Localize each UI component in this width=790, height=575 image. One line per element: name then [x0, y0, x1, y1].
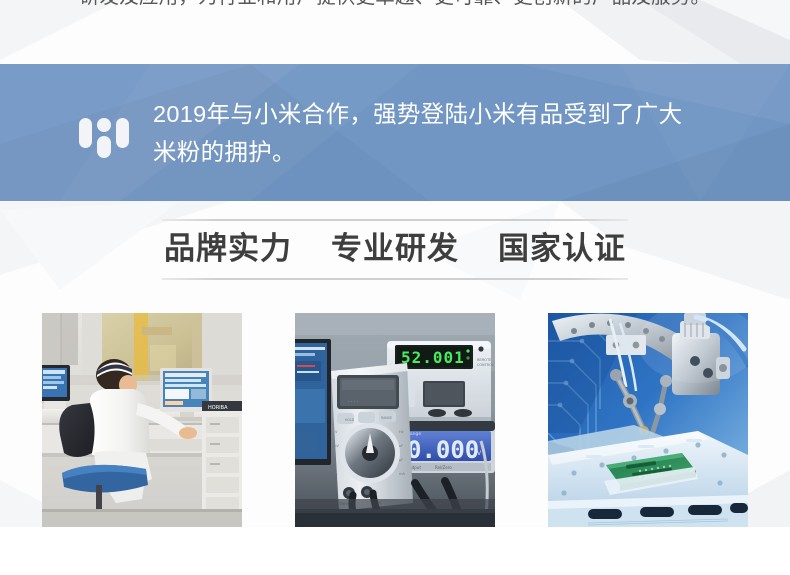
heading-brand-strength: 品牌实力: [164, 229, 292, 269]
xiaomi-mi-logo-icon: [78, 106, 130, 158]
banner-headline-text: 2019年与小米合作，强势登陆小米有品受到了广大米粉的拥护。: [153, 95, 698, 171]
headings-row: 品牌实力 专业研发 国家认证: [162, 221, 628, 278]
photo-gallery-row: HORIBA: [42, 313, 748, 527]
photo-measurement-instruments: 52.001 REMOTE CONTROL Auto Range 0.000: [295, 313, 495, 527]
section-headings-block: 品牌实力 专业研发 国家认证: [162, 219, 628, 280]
intro-paragraph-text: 研发及应用，为行业和用户提供更卓越、更可靠、更创新的产品及服务。: [0, 0, 790, 13]
heading-national-certification: 国家认证: [498, 229, 626, 269]
heading-rule-bottom: [162, 278, 628, 280]
xiaomi-partnership-banner: 2019年与小米合作，强势登陆小米有品受到了广大米粉的拥护。: [0, 64, 790, 201]
photo-robotic-pcb-testing: [548, 313, 748, 527]
photo-quality-lab-workstation: HORIBA: [42, 313, 242, 527]
banner-content: 2019年与小米合作，强势登陆小米有品受到了广大米粉的拥护。: [78, 64, 750, 201]
heading-professional-rnd: 专业研发: [331, 229, 459, 269]
intro-paragraph-strip: 研发及应用，为行业和用户提供更卓越、更可靠、更创新的产品及服务。: [0, 0, 790, 64]
page-root: 研发及应用，为行业和用户提供更卓越、更可靠、更创新的产品及服务。 2019年与小…: [0, 0, 790, 575]
bottom-white-band: [0, 527, 790, 575]
